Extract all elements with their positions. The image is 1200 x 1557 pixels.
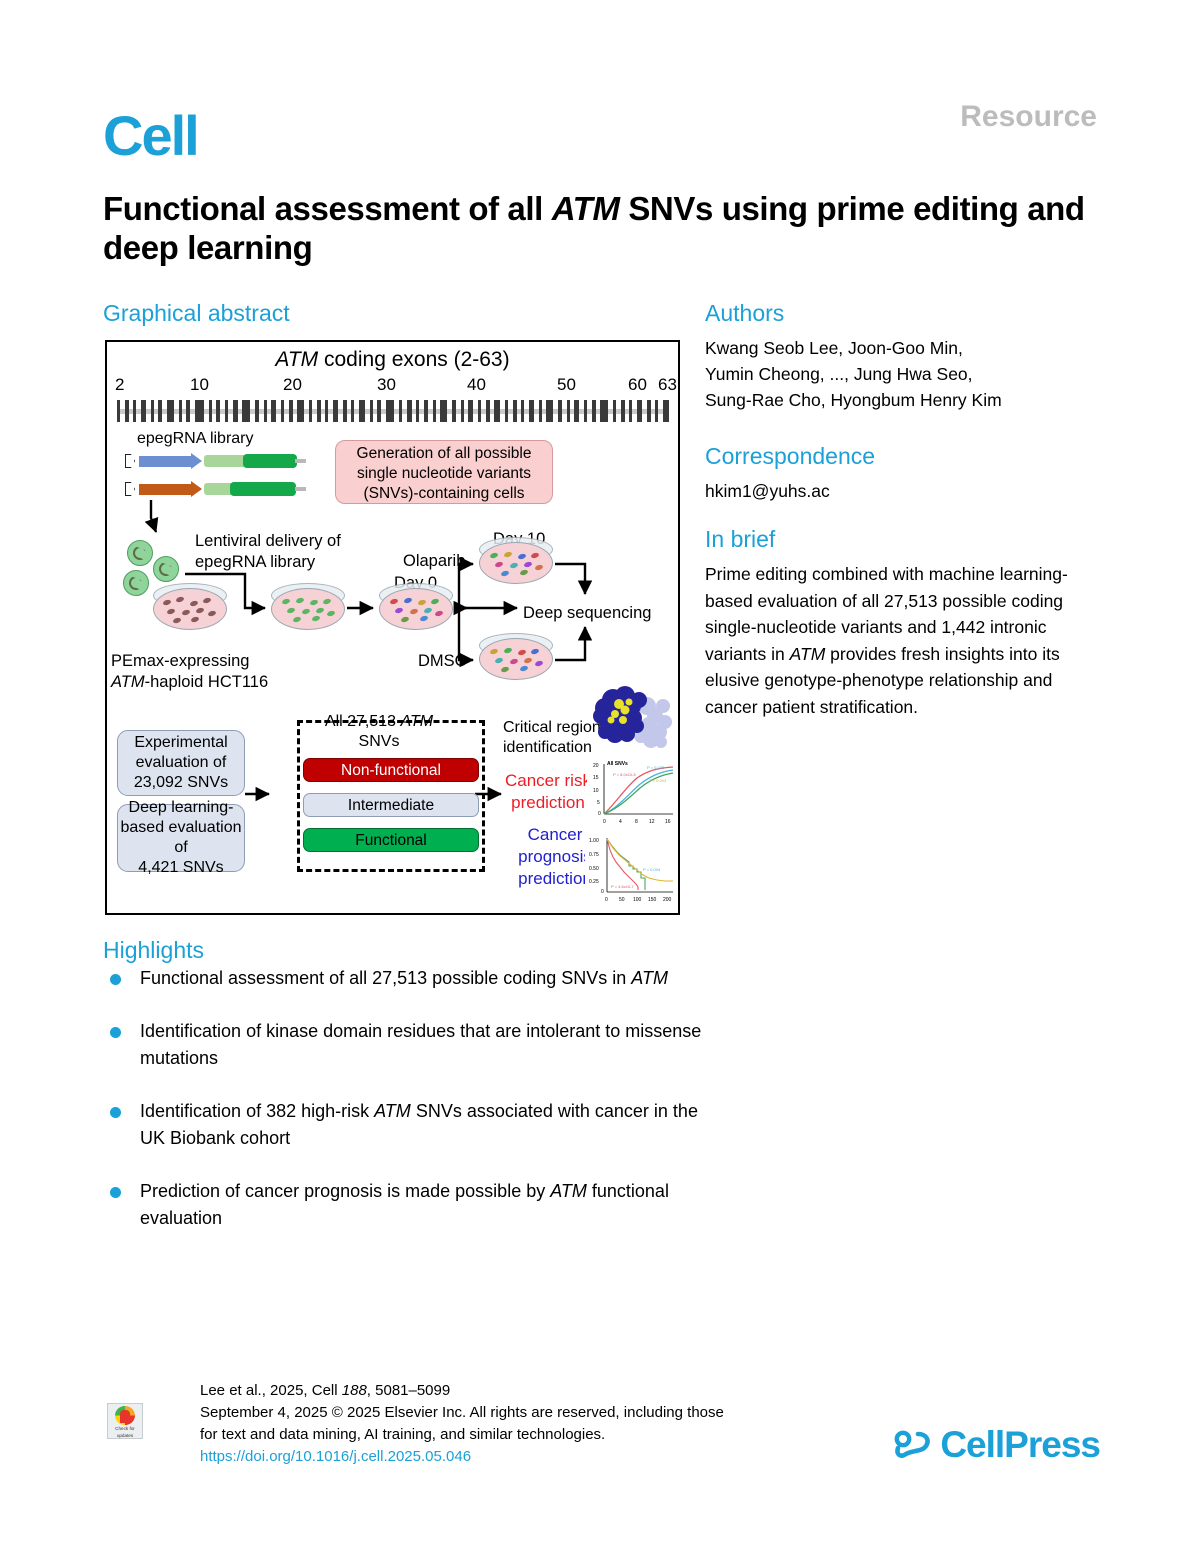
promoter-icon	[125, 454, 135, 468]
in-brief-heading: In brief	[705, 526, 775, 553]
exon-bar-8	[167, 400, 174, 422]
exp-line1: Experimental	[134, 733, 228, 753]
cancer-risk-mini-chart: All SNVs 20 15 10 5 0 0 4 8 12 16 P = 8.…	[587, 756, 677, 828]
exon-bar-38	[440, 400, 447, 422]
exon-bar-25	[325, 400, 328, 422]
list-item: Identification of 382 high-risk ATM SNVs…	[103, 1098, 703, 1152]
lentiviral-delivery-line1: Lentiviral delivery of	[195, 532, 341, 551]
crossmark-check-for-updates-badge[interactable]: Check for updates	[107, 1403, 143, 1439]
experimental-evaluation-box: Experimental evaluation of 23,092 SNVs	[117, 730, 245, 796]
exon-bar-36	[424, 400, 428, 422]
bullet-icon	[110, 1027, 121, 1038]
exon-bar-54	[584, 400, 587, 422]
exon-bar-29	[359, 400, 365, 422]
exon-bar-47	[521, 400, 524, 422]
exon-bar-10	[186, 400, 190, 422]
svg-text:5: 5	[597, 800, 600, 806]
exon-bar-9	[179, 400, 182, 422]
epegrna-construct-blue	[125, 454, 295, 468]
highlight-text: Identification of kinase domain residues…	[140, 1021, 701, 1068]
exon-tick-40: 40	[467, 375, 486, 395]
exp-line2: evaluation of	[134, 753, 228, 773]
exon-bar-57	[613, 400, 616, 422]
dish-cells	[486, 548, 545, 579]
cell-press-logo: CellPress	[892, 1424, 1100, 1466]
in-brief-gene: ATM	[790, 644, 826, 664]
mini-chart1-p3: P = 0.003	[649, 778, 667, 783]
promoter-icon	[125, 482, 135, 496]
exon-bar-26	[333, 400, 338, 422]
exon-bar-27	[343, 400, 347, 422]
authors-line-1: Kwang Seob Lee, Joon-Goo Min,	[705, 335, 1095, 361]
exon-bar-61	[647, 400, 651, 422]
exon-bar-49	[539, 400, 542, 422]
authors-line-3: Sung-Rae Cho, Hyongbum Henry Kim	[705, 387, 1095, 413]
scaffold-segment-dark	[243, 454, 297, 468]
svg-text:100: 100	[633, 897, 642, 903]
authors-list: Kwang Seob Lee, Joon-Goo Min, Yumin Cheo…	[705, 335, 1095, 413]
arrow-body-blue	[139, 456, 193, 467]
pemax-suffix: -haploid HCT116	[145, 673, 269, 691]
exon-bar-52	[567, 400, 570, 422]
exon-bar-30	[370, 400, 373, 422]
bullet-icon	[110, 1187, 121, 1198]
cancer-risk-prediction-label: Cancer risk prediction	[505, 770, 591, 814]
mini-chart2-p1: P = 0.004	[643, 867, 661, 872]
exon-tick-30: 30	[377, 375, 396, 395]
arrow-body-orange	[139, 484, 193, 495]
culture-dish-olaparib	[479, 542, 553, 584]
exon-bar-51	[558, 400, 562, 422]
svg-text:1.00: 1.00	[589, 838, 599, 844]
critical-line1: Critical region	[503, 718, 601, 738]
svg-text:0: 0	[601, 889, 604, 895]
exon-bar-62	[655, 400, 658, 422]
exon-bar-60	[637, 400, 642, 422]
graphical-abstract-heading: Graphical abstract	[103, 300, 290, 327]
exon-bar-23	[309, 400, 312, 422]
exon-bar-35	[416, 400, 419, 422]
svg-text:0: 0	[605, 897, 608, 903]
exon-bar-20	[281, 400, 284, 422]
mini-chart2-p2: P = 4.6x10-7	[611, 884, 634, 889]
culture-dish-hct116	[153, 588, 227, 630]
pemax-label-line2: ATM-haploid HCT116	[111, 673, 268, 692]
exon-bar-46	[513, 400, 517, 422]
cell-journal-logo: Cell	[103, 108, 198, 164]
svg-text:10: 10	[593, 788, 599, 794]
svg-text:0: 0	[598, 811, 601, 817]
cancer-prognosis-mini-chart: 1.00 0.75 0.50 0.25 0 0 50 100 150 200 P…	[585, 832, 677, 906]
exon-bar-5	[141, 400, 146, 422]
exon-bar-32	[386, 400, 394, 422]
list-item: Prediction of cancer prognosis is made p…	[103, 1178, 703, 1232]
cell-press-mark-icon	[892, 1428, 934, 1462]
badge-line1: Check for	[115, 1426, 135, 1431]
exon-bar-34	[407, 400, 412, 422]
deep-sequencing-label: Deep sequencing	[523, 604, 651, 623]
exon-bar-45	[505, 400, 508, 422]
exon-bar-11	[195, 400, 204, 422]
culture-dish-dmso	[479, 638, 553, 680]
poster-page: Cell Resource Functional assessment of a…	[0, 0, 1200, 1557]
culture-dish-transduced	[271, 588, 345, 630]
highlight-gene: ATM	[550, 1181, 587, 1201]
citation-line: Lee et al., 2025, Cell 188, 5081–5099	[200, 1380, 840, 1402]
olaparib-label: Olaparib	[403, 552, 465, 571]
citation-volume: 188	[342, 1382, 367, 1399]
highlight-text: Functional assessment of all 27,513 poss…	[140, 968, 668, 988]
svg-text:150: 150	[648, 897, 657, 903]
arrow-head-orange	[191, 481, 202, 497]
exon-bar-40	[461, 400, 464, 422]
graphical-abstract-figure: ATM coding exons (2-63) 2 10 20 30 40 50…	[105, 340, 680, 915]
exon-bar-18	[264, 400, 267, 422]
authors-line-2: Yumin Cheong, ..., Jung Hwa Seo,	[705, 361, 1095, 387]
exon-bar-14	[225, 400, 228, 422]
title-part-1: Functional assessment of all	[103, 190, 552, 227]
highlight-pre: Functional assessment of all 27,513 poss…	[140, 968, 631, 988]
dish-cells	[486, 644, 545, 675]
exon-bar-19	[271, 400, 276, 422]
exon-bar-24	[317, 400, 321, 422]
highlight-text: Prediction of cancer prognosis is made p…	[140, 1181, 669, 1228]
exon-tick-20: 20	[283, 375, 302, 395]
svg-text:8: 8	[635, 819, 638, 825]
exon-bar-17	[255, 400, 259, 422]
highlight-text: Identification of 382 high-risk ATM SNVs…	[140, 1101, 698, 1148]
authors-heading: Authors	[705, 300, 784, 327]
exon-bar-21	[289, 400, 293, 422]
svg-text:50: 50	[619, 897, 625, 903]
svg-text:0: 0	[603, 819, 606, 825]
in-brief-text: Prime editing combined with machine lear…	[705, 561, 1095, 720]
exon-tick-2: 2	[115, 375, 124, 395]
pemax-label-line1: PEmax-expressing	[111, 652, 249, 671]
critical-line2: identification	[503, 738, 601, 758]
svg-text:20: 20	[593, 763, 599, 769]
exon-tick-60: 60	[628, 375, 647, 395]
list-item: Functional assessment of all 27,513 poss…	[103, 965, 703, 992]
exon-bar-28	[351, 400, 354, 422]
correspondence-heading: Correspondence	[705, 443, 875, 470]
svg-text:0.25: 0.25	[589, 879, 599, 885]
exon-tick-50: 50	[557, 375, 576, 395]
citation-pre: Lee et al., 2025, Cell	[200, 1382, 342, 1399]
lentivirus-particle	[127, 540, 153, 566]
highlights-list: Functional assessment of all 27,513 poss…	[103, 965, 703, 1258]
highlight-gene: ATM	[374, 1101, 411, 1121]
svg-text:15: 15	[593, 775, 599, 781]
highlight-pre: Identification of 382 high-risk	[140, 1101, 374, 1121]
exon-bar-55	[592, 400, 596, 422]
svg-text:0.50: 0.50	[589, 866, 599, 872]
exon-bar-59	[629, 400, 632, 422]
exon-tick-10: 10	[190, 375, 209, 395]
exon-bar-63	[663, 400, 669, 422]
exon-bar-15	[233, 400, 238, 422]
exon-bar-50	[546, 400, 553, 422]
figure-title-rest: coding exons (2-63)	[318, 348, 509, 371]
exon-tick-63: 63	[658, 375, 677, 395]
exon-bar-22	[297, 400, 304, 422]
citation-pages: , 5081–5099	[367, 1382, 450, 1399]
correspondence-email[interactable]: hkim1@yuhs.ac	[705, 478, 1095, 504]
lentivirus-particle	[153, 556, 179, 582]
lentivirus-particle	[123, 570, 149, 596]
mini-chart1-title: All SNVs	[607, 761, 628, 767]
exon-bar-41	[468, 400, 473, 422]
dl-line1: Deep learning-	[118, 798, 244, 818]
copyright-line-2: for text and data mining, AI training, a…	[200, 1424, 840, 1446]
page-title: Functional assessment of all ATM SNVs us…	[103, 190, 1093, 268]
exon-bar-58	[621, 400, 625, 422]
category-non-functional: Non-functional	[303, 758, 479, 782]
dish-cells	[160, 594, 219, 625]
critical-region-label: Critical region identification	[503, 718, 601, 758]
svg-text:16: 16	[665, 819, 671, 825]
dish-cells	[278, 594, 337, 625]
snv-generation-callout: Generation of all possible single nucleo…	[335, 440, 553, 504]
exon-structure-track	[117, 400, 669, 422]
pemax-gene: ATM	[111, 673, 145, 691]
highlight-pre: Identification of kinase domain residues…	[140, 1021, 701, 1068]
exp-line3: 23,092 SNVs	[134, 773, 228, 793]
citation-block: Lee et al., 2025, Cell 188, 5081–5099 Se…	[200, 1380, 840, 1468]
svg-text:12: 12	[649, 819, 655, 825]
epegrna-construct-orange	[125, 482, 295, 496]
exon-bar-39	[452, 400, 456, 422]
exon-bar-37	[433, 400, 436, 422]
exon-axis-ticks: 2 10 20 30 40 50 60 63	[115, 375, 673, 397]
arrow-head-blue	[191, 453, 202, 469]
exon-bar-6	[151, 400, 154, 422]
badge-line2: updates	[117, 1433, 133, 1438]
dish-cells	[386, 594, 445, 625]
dl-line3: 4,421 SNVs	[118, 858, 244, 878]
cell-press-wordmark: CellPress	[940, 1424, 1100, 1466]
exon-bar-2	[117, 400, 120, 422]
doi-link[interactable]: https://doi.org/10.1016/j.cell.2025.05.0…	[200, 1446, 840, 1468]
epegrna-library-label: epegRNA library	[137, 430, 254, 448]
cancer-risk-line2: prediction	[505, 792, 591, 814]
dmso-label: DMSO	[418, 652, 468, 671]
figure-exon-title: ATM coding exons (2-63)	[107, 348, 678, 372]
mini-chart1-p2: P = 0.005	[647, 765, 665, 770]
scaffold-segment-light	[204, 455, 248, 467]
highlights-heading: Highlights	[103, 937, 204, 964]
exon-bar-16	[242, 400, 250, 422]
bullet-icon	[110, 1107, 121, 1118]
exon-bar-48	[529, 400, 534, 422]
svg-text:200: 200	[663, 897, 672, 903]
protein-structure-icon	[591, 684, 677, 752]
bullet-icon	[110, 974, 121, 985]
lentiviral-delivery-line2: epegRNA library	[195, 553, 315, 572]
highlight-gene: ATM	[631, 968, 668, 988]
construct-tail	[295, 459, 306, 463]
dl-line2: based evaluation of	[118, 818, 244, 858]
exon-bar-44	[494, 400, 500, 422]
mini-chart1-p1: P = 8.0x10-5	[613, 772, 636, 777]
exon-bar-12	[209, 400, 212, 422]
exon-bar-53	[574, 400, 579, 422]
crossmark-icon	[115, 1406, 135, 1425]
article-type-label: Resource	[960, 100, 1097, 134]
exon-bar-56	[600, 400, 608, 422]
construct-tail	[295, 487, 306, 491]
cancer-risk-line1: Cancer risk	[505, 770, 591, 792]
category-intermediate: Intermediate	[303, 793, 479, 817]
exon-bar-43	[486, 400, 490, 422]
culture-dish-day0	[379, 588, 453, 630]
scaffold-segment-dark	[230, 482, 296, 496]
svg-text:0.75: 0.75	[589, 852, 599, 858]
category-functional: Functional	[303, 828, 479, 852]
exon-bar-31	[377, 400, 381, 422]
exon-bar-7	[158, 400, 162, 422]
exon-bar-4	[133, 400, 136, 422]
title-gene-italic: ATM	[552, 190, 620, 227]
deep-learning-evaluation-box: Deep learning- based evaluation of 4,421…	[117, 804, 245, 872]
exon-bar-13	[216, 400, 220, 422]
list-item: Identification of kinase domain residues…	[103, 1018, 703, 1072]
exon-bar-42	[478, 400, 481, 422]
copyright-line-1: September 4, 2025 © 2025 Elsevier Inc. A…	[200, 1402, 840, 1424]
svg-text:4: 4	[619, 819, 622, 825]
exon-bar-33	[399, 400, 402, 422]
highlight-pre: Prediction of cancer prognosis is made p…	[140, 1181, 550, 1201]
exon-bar-3	[125, 400, 129, 422]
figure-title-gene: ATM	[275, 348, 318, 371]
